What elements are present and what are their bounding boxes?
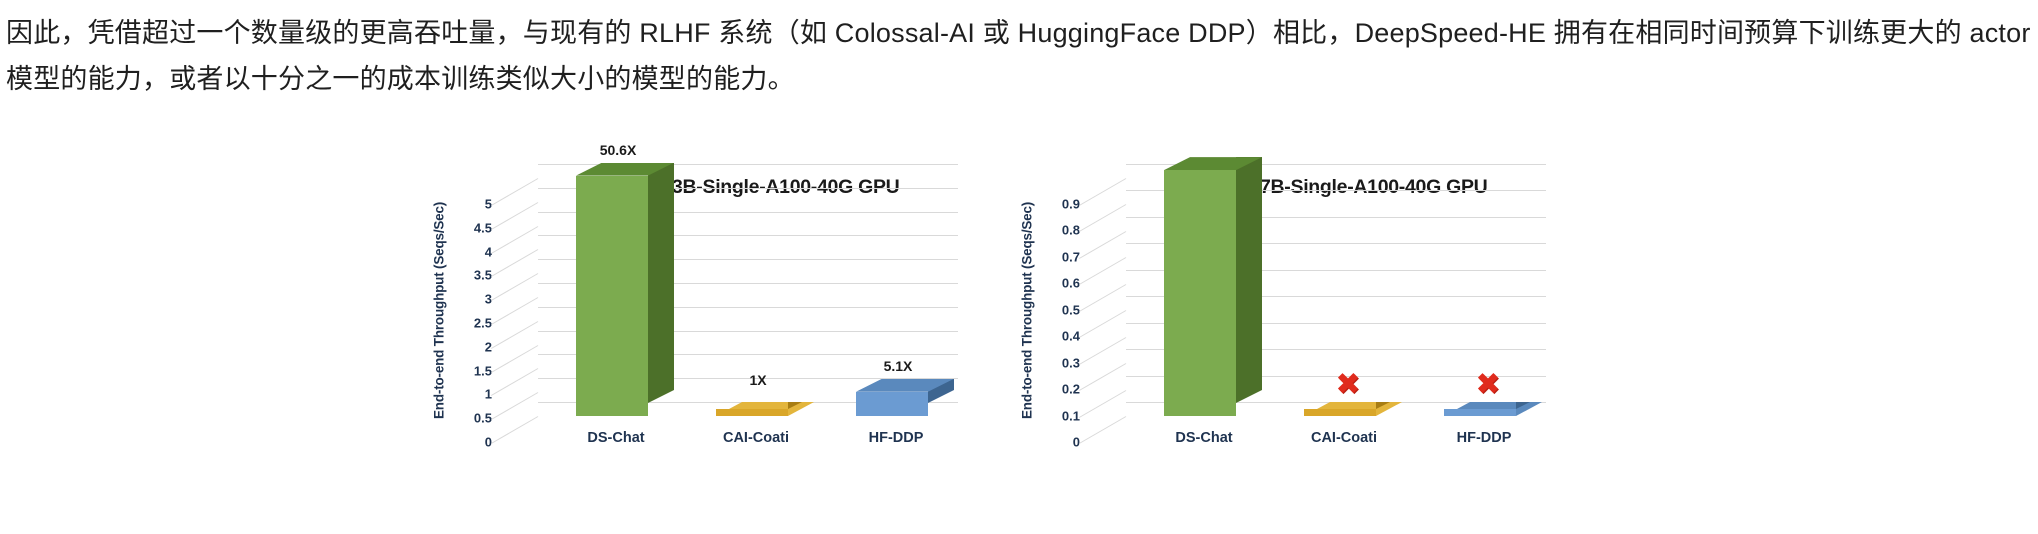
x-axis-label-hf-ddp: HF-DDP	[869, 430, 924, 446]
x-axis-label-cai-coati: CAI-Coati	[723, 430, 789, 446]
y-axis-title-right: End-to-end Throughput (Seqs/Sec)	[1016, 176, 1038, 444]
gridline-depth	[491, 368, 538, 396]
bar-value-label: 1X	[749, 372, 766, 388]
bar-ds-chat	[576, 176, 648, 416]
y-tick-label: 0.6	[1062, 276, 1080, 291]
y-tick-label: 4.5	[474, 220, 492, 235]
y-tick-label: 0.8	[1062, 223, 1080, 238]
unsupported-x-icon: ✖	[1335, 370, 1360, 400]
bar-hf-ddp	[1444, 406, 1516, 416]
y-tick-label: 0.4	[1062, 329, 1080, 344]
gridline-depth	[1079, 284, 1126, 312]
y-axis-title-left: End-to-end Throughput (Seqs/Sec)	[428, 176, 450, 444]
x-axis-label-hf-ddp: HF-DDP	[1457, 430, 1512, 446]
bar-value-label: 50.6X	[600, 142, 637, 158]
gridline-depth	[491, 416, 538, 444]
gridline-depth	[1079, 257, 1126, 285]
bar-cai-coati	[1304, 406, 1376, 416]
bar-value-label: 5.1X	[884, 358, 913, 374]
gridline-depth	[491, 392, 538, 420]
gridline-depth	[491, 297, 538, 325]
gridline-depth	[1079, 205, 1126, 233]
gridline-depth	[1079, 231, 1126, 259]
bar-side-face	[1236, 157, 1262, 403]
bar-front-face	[856, 392, 928, 416]
y-tick-label: 3.5	[474, 268, 492, 283]
gridline-depth	[491, 321, 538, 349]
unsupported-x-icon: ✖	[1475, 370, 1500, 400]
bar-cai-coati	[716, 406, 788, 416]
bar-front-face	[1444, 409, 1516, 416]
gridline-depth	[1079, 337, 1126, 365]
plot-area-left: OPT-1.3B-Single-A100-40G GPU 50.6XDS-Cha…	[492, 154, 958, 472]
y-tick-label: 0.1	[1062, 408, 1080, 423]
gridline-depth	[1079, 363, 1126, 391]
y-tick-label: 0.5	[1062, 302, 1080, 317]
bar-front-face	[716, 409, 788, 416]
y-tick-label: 1.5	[474, 363, 492, 378]
bar-hf-ddp	[856, 392, 928, 416]
bar-front-face	[1164, 170, 1236, 416]
y-axis-ticks-left: 00.511.522.533.544.55	[452, 166, 492, 458]
y-tick-label: 0.3	[1062, 355, 1080, 370]
bar-front-face	[1304, 409, 1376, 416]
chart-opt-1-3b: End-to-end Throughput (Seqs/Sec) 00.511.…	[430, 140, 970, 534]
y-tick-label: 0.9	[1062, 197, 1080, 212]
bar-ds-chat	[1164, 170, 1236, 416]
y-tick-label: 0.2	[1062, 382, 1080, 397]
gridline-depth	[1079, 390, 1126, 418]
x-axis-label-ds-chat: DS-Chat	[1175, 430, 1232, 446]
gridline-depth	[491, 178, 538, 206]
y-tick-label: 0.7	[1062, 249, 1080, 264]
gridline-depth	[491, 345, 538, 373]
x-axis-label-cai-coati: CAI-Coati	[1311, 430, 1377, 446]
gridline-depth	[1079, 416, 1126, 444]
gridline-depth	[491, 226, 538, 254]
y-tick-label: 2.5	[474, 316, 492, 331]
gridline-depth	[491, 202, 538, 230]
x-axis-label-ds-chat: DS-Chat	[587, 430, 644, 446]
chart-opt-6-7b: End-to-end Throughput (Seqs/Sec) 00.10.2…	[1018, 140, 1558, 534]
bar-front-face	[576, 176, 648, 416]
body-paragraph: 因此，凭借超过一个数量级的更高吞吐量，与现有的 RLHF 系统（如 Coloss…	[6, 10, 2032, 102]
gridline-depth	[1079, 310, 1126, 338]
y-tick-label: 0.5	[474, 411, 492, 426]
bar-side-face	[648, 163, 674, 403]
plot-area-right: OPT-6.7B-Single-A100-40G GPU DS-Chat✖CAI…	[1080, 154, 1546, 472]
gridline-depth	[491, 249, 538, 277]
y-axis-ticks-right: 00.10.20.30.40.50.60.70.80.9	[1040, 166, 1080, 458]
gridline-depth	[1079, 178, 1126, 206]
gridline-depth	[491, 273, 538, 301]
figure-charts: End-to-end Throughput (Seqs/Sec) 00.511.…	[0, 140, 2038, 534]
